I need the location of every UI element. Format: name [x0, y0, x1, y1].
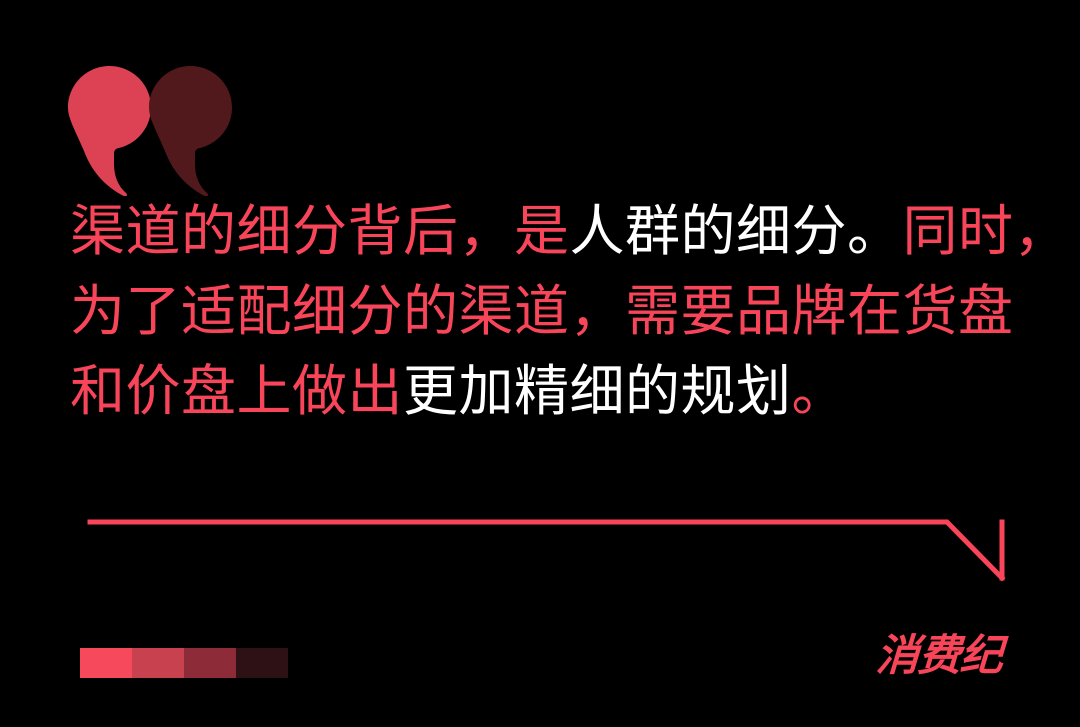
divider-rule — [80, 505, 1020, 600]
quote-text-block: 渠道的细分背后，是人群的细分。同时， 为了适配细分的渠道，需要品牌在货盘 和价盘… — [70, 192, 1022, 432]
quote-segment-highlight: 更加精细的规划 — [403, 361, 792, 422]
quotation-mark-icon-primary — [68, 66, 151, 196]
quote-segment: 和价盘上做出 — [70, 361, 403, 422]
quote-mark-group — [68, 66, 248, 196]
palette-swatch-4 — [236, 648, 288, 678]
quote-segment: 。 — [792, 361, 848, 422]
palette-swatch-row — [80, 648, 288, 678]
palette-swatch-3 — [184, 648, 236, 678]
quote-segment: 渠道的细分背后，是 — [70, 201, 570, 262]
quote-card: 渠道的细分背后，是人群的细分。同时， 为了适配细分的渠道，需要品牌在货盘 和价盘… — [0, 0, 1080, 727]
palette-swatch-1 — [80, 648, 132, 678]
quote-line-1: 渠道的细分背后，是人群的细分。同时， — [70, 192, 1022, 272]
quote-line-2: 为了适配细分的渠道，需要品牌在货盘 — [70, 272, 1022, 352]
quote-line-3: 和价盘上做出更加精细的规划。 — [70, 352, 1022, 432]
palette-swatch-2 — [132, 648, 184, 678]
brand-logo: 消费纪 — [875, 632, 1004, 680]
quote-segment: 同时， — [903, 201, 1070, 262]
quote-segment: 为了适配细分的渠道，需要品牌在货盘 — [70, 281, 1014, 342]
quote-segment-highlight: 人群的细分。 — [570, 201, 903, 262]
quotation-mark-icon-secondary — [149, 66, 232, 196]
